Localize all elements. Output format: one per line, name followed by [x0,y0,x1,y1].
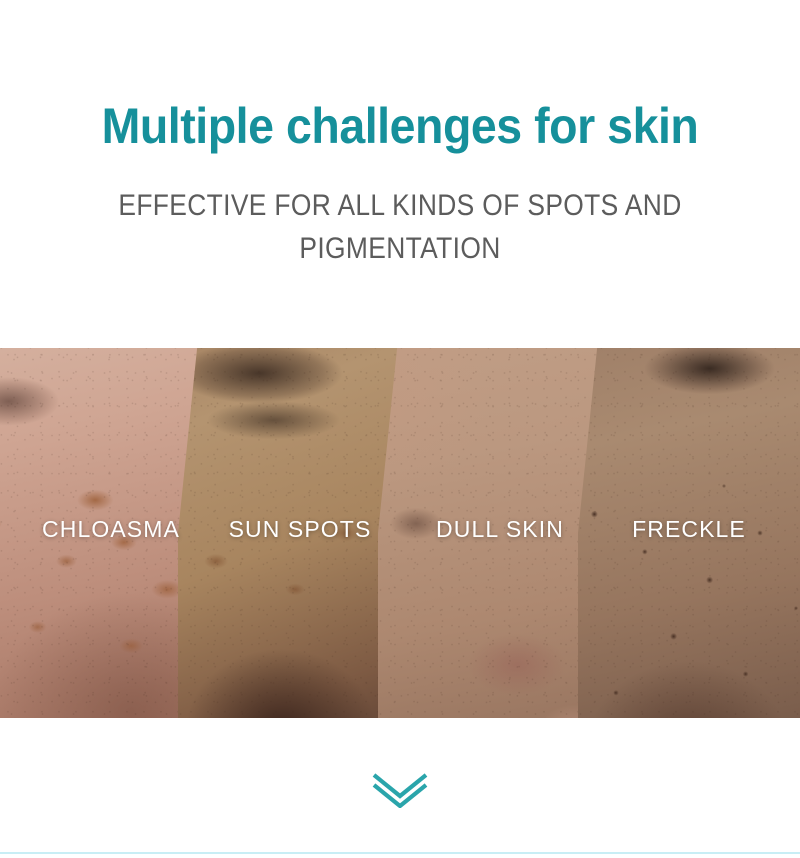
condition-panel-freckle[interactable]: FRECKLE [578,348,800,718]
product-banner-page: Multiple challenges for skin EFFECTIVE F… [0,0,800,858]
page-subtitle-line-1: EFFECTIVE FOR ALL KINDS OF SPOTS AND [92,184,708,227]
skin-conditions-strip: CHLOASMA SUN SPOTS DULL SKIN [0,348,800,718]
chevron-double-down-icon[interactable] [371,772,429,808]
page-subtitle: EFFECTIVE FOR ALL KINDS OF SPOTS AND PIG… [92,184,708,270]
page-title: Multiple challenges for skin [28,97,772,155]
scroll-down-indicator[interactable] [0,762,800,818]
header-section: Multiple challenges for skin EFFECTIVE F… [0,0,800,348]
bottom-divider [0,852,800,854]
page-subtitle-line-2: PIGMENTATION [92,227,708,270]
condition-label-freckle: FRECKLE [578,516,800,543]
